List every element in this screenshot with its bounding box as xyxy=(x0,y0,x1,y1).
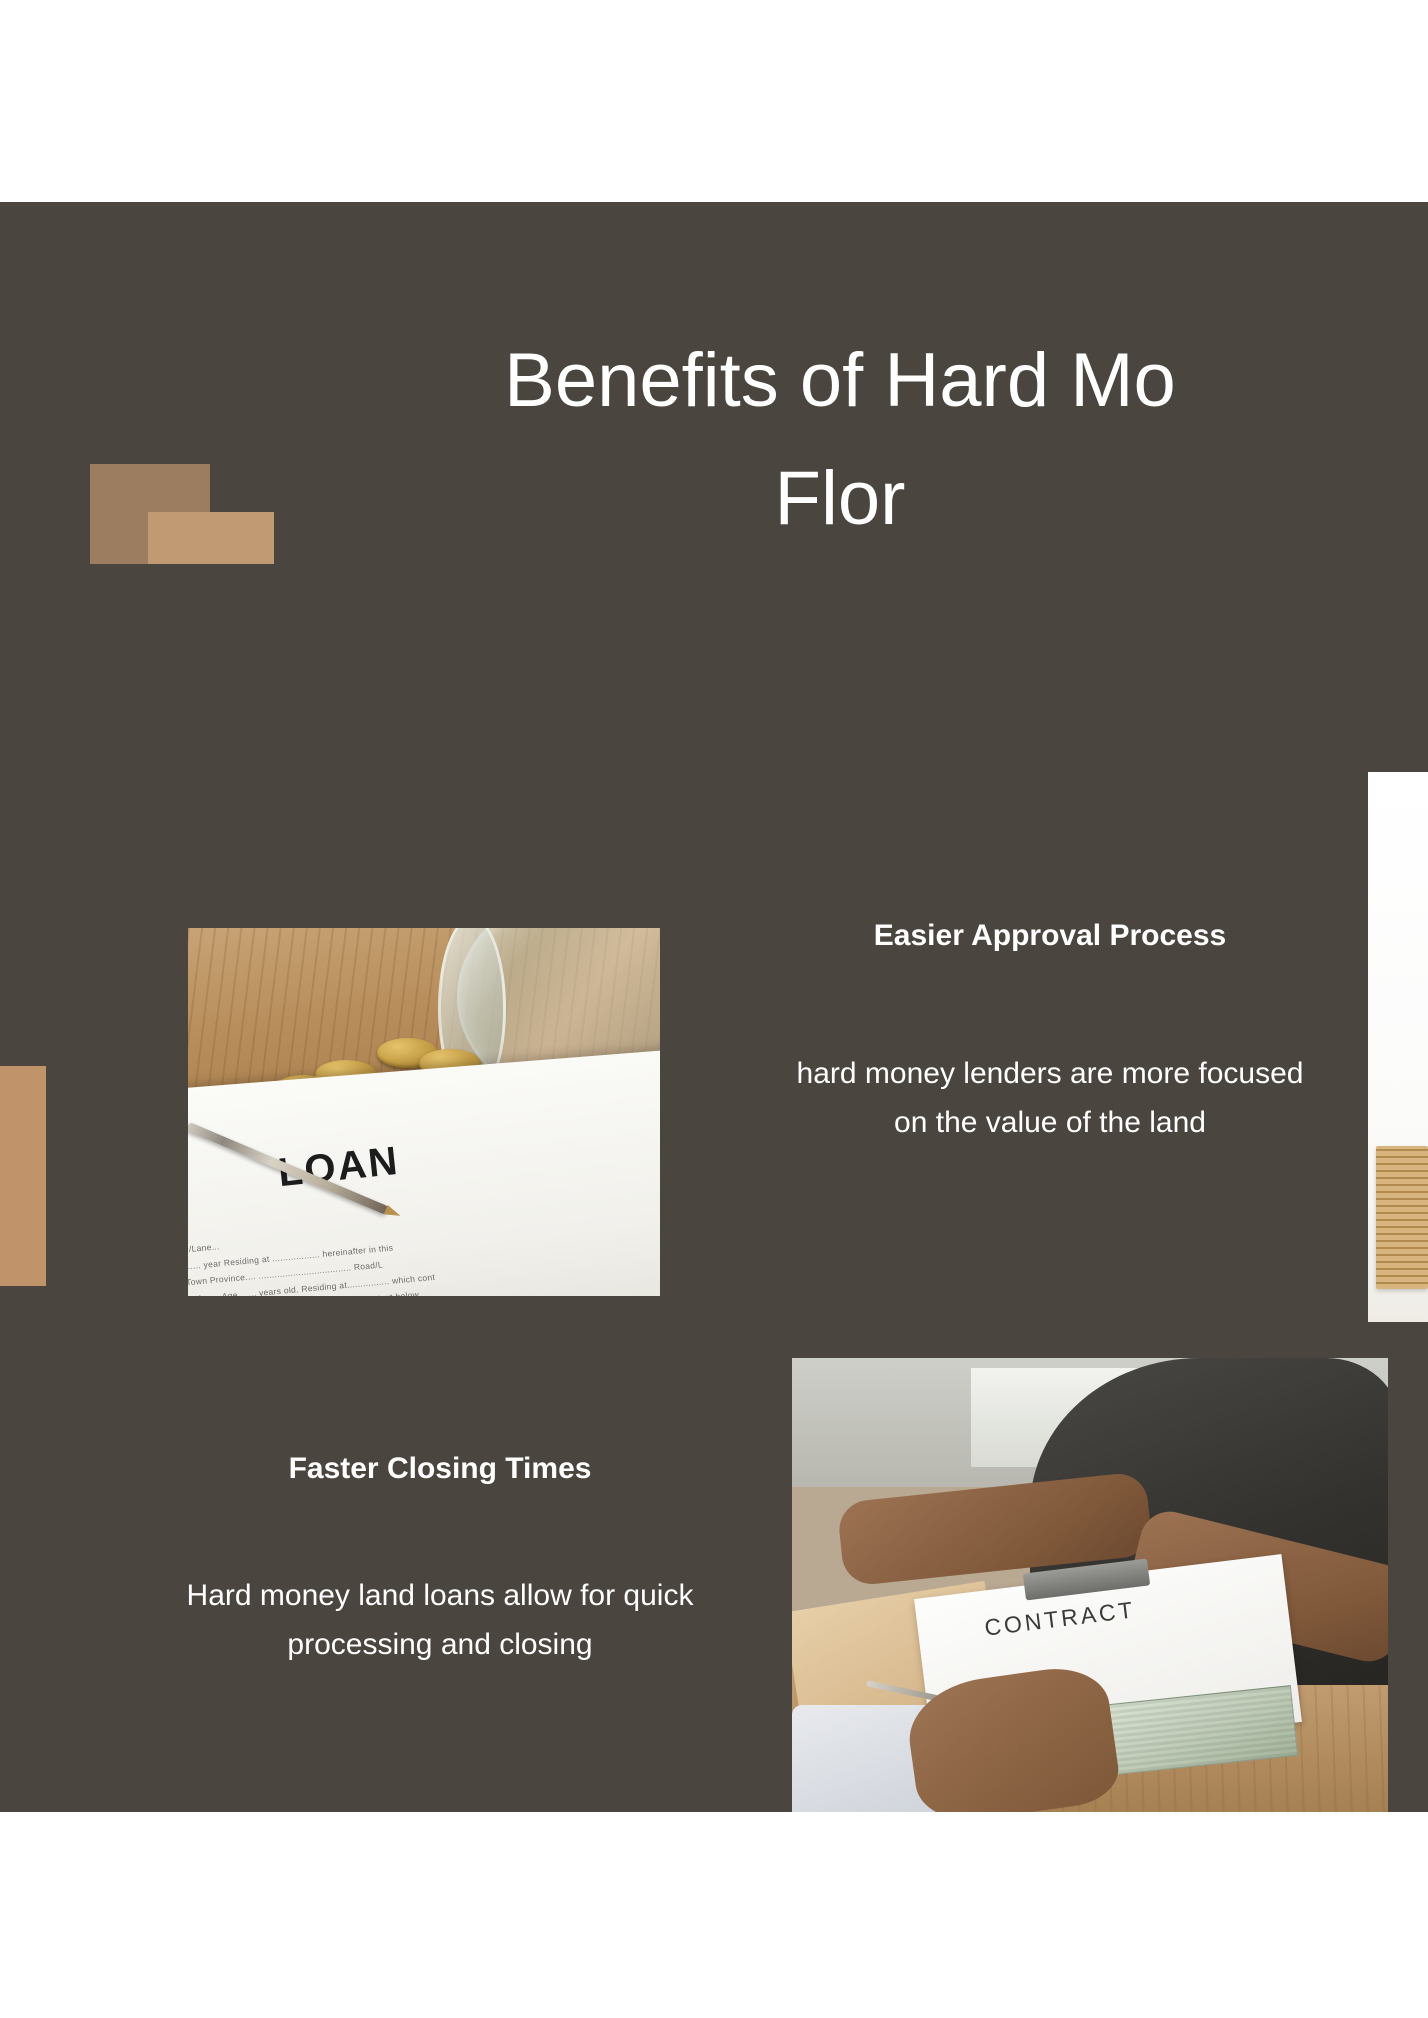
body-easier-approval: hard money lenders are more focused on t… xyxy=(790,1050,1310,1147)
photo-coin-stacks xyxy=(1368,772,1428,1322)
heading-faster-closing: Faster Closing Times xyxy=(160,1450,720,1488)
decor-swatch-left-bar xyxy=(0,1066,46,1286)
photo-loan-document: LOAN Road /Lane... Age ...... year Resid… xyxy=(188,928,660,1296)
contract-clipboard-label: CONTRACT xyxy=(983,1596,1137,1641)
photo-contract-signing: CONTRACT xyxy=(792,1358,1388,1812)
slide-canvas: Benefits of Hard Mo Flor LOAN Road /Lane… xyxy=(0,202,1428,1812)
heading-easier-approval: Easier Approval Process xyxy=(770,917,1330,955)
slide-title-line-2: Flor xyxy=(180,440,1428,558)
slide-title: Benefits of Hard Mo Flor xyxy=(180,322,1428,558)
coin-stack xyxy=(1376,1146,1428,1289)
body-faster-closing: Hard money land loans allow for quick pr… xyxy=(160,1572,720,1669)
slide-title-line-1: Benefits of Hard Mo xyxy=(180,322,1428,440)
